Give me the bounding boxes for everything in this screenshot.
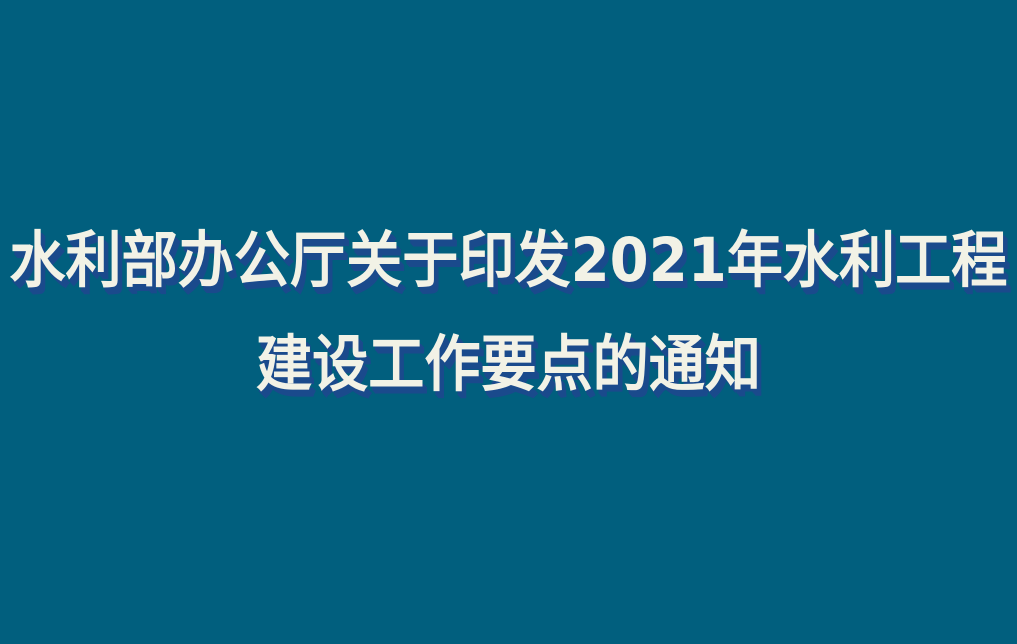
title-banner: 水利部办公厅关于印发2021年水利工程 建设工作要点的通知: [0, 0, 1017, 644]
banner-title: 水利部办公厅关于印发2021年水利工程 建设工作要点的通知: [0, 224, 1017, 402]
banner-title-line-1: 水利部办公厅关于印发2021年水利工程: [10, 224, 1008, 298]
banner-title-line-2: 建设工作要点的通知: [256, 328, 761, 402]
